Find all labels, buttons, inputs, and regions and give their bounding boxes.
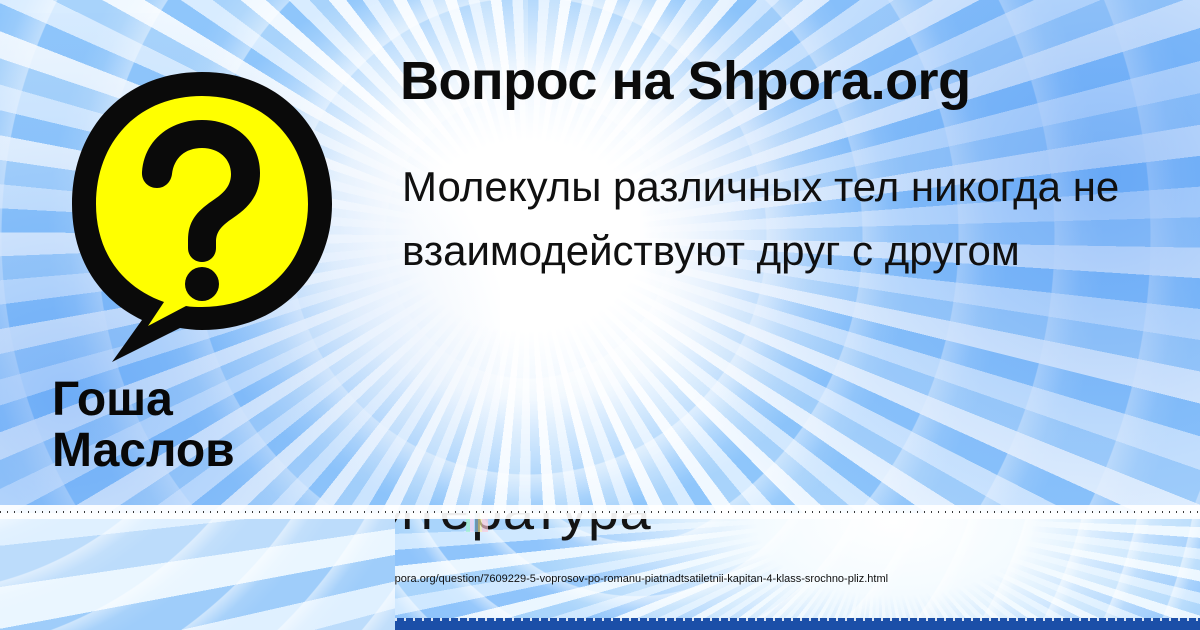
question-mark-speech-bubble-icon bbox=[52, 62, 352, 362]
inset-question-card: Литература https://shpora.org/question/7… bbox=[395, 513, 1200, 630]
inset-source-url[interactable]: https://shpora.org/question/7609229-5-vo… bbox=[395, 573, 888, 585]
inset-bottom-bar bbox=[395, 618, 1200, 630]
layer-separator-dashed-line bbox=[0, 505, 1200, 519]
screenshot-canvas: Литература https://shpora.org/question/7… bbox=[0, 0, 1200, 630]
page-title: Вопрос на Shpora.org bbox=[400, 50, 971, 112]
question-text: Молекулы различных тел никогда не взаимо… bbox=[402, 155, 1162, 283]
main-background-layer: Вопрос на Shpora.org Молекулы различных … bbox=[0, 0, 1200, 513]
author-last-name: Маслов bbox=[52, 426, 372, 477]
author-name: Гоша Маслов bbox=[52, 375, 372, 477]
author-first-name: Гоша bbox=[52, 375, 372, 426]
